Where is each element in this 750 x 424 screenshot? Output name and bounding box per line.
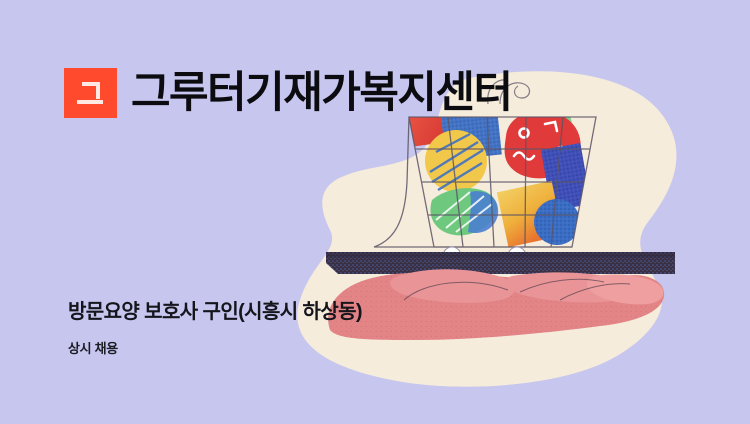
job-status-badge: 상시 채용	[68, 338, 118, 357]
hand-holding-shopping-cart-illustration	[0, 0, 750, 424]
brand-name: 그루터기재가복지센터	[131, 72, 512, 115]
job-title: 방문요양 보호사 구인(시흥시 하상동)	[68, 295, 362, 324]
brand-row: 그루터기재가복지센터	[64, 68, 512, 118]
giyeok-logo-icon	[64, 68, 117, 118]
job-posting-banner: 그루터기재가복지센터 방문요양 보호사 구인(시흥시 하상동) 상시 채용	[0, 0, 750, 424]
item-green-blue-leaf	[430, 188, 498, 235]
platform-bar-shadow	[326, 252, 675, 258]
